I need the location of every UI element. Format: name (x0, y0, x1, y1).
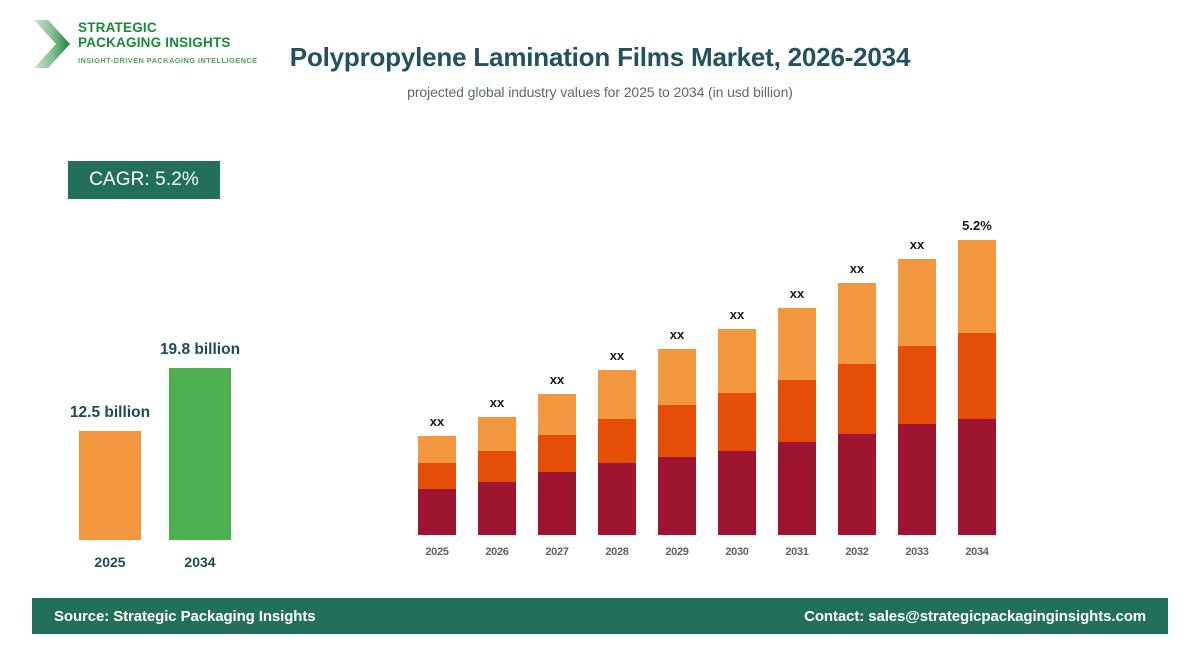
stacked-bar (838, 283, 876, 535)
stacked-bar-segment-segment-top (538, 394, 576, 435)
comparison-bar-group: 19.8 billion (169, 366, 231, 540)
stacked-bar-top-label: xx (402, 414, 472, 429)
stacked-bar (478, 417, 516, 535)
stacked-bar-segment-segment-top (418, 436, 456, 463)
stacked-bar-group: xx2031 (778, 225, 816, 560)
stacked-bar-axis-label: 2027 (538, 546, 576, 558)
comparison-bar-value-label: 19.8 billion (120, 341, 280, 359)
stacked-bar-segment-segment-middle (478, 451, 516, 482)
logo-line-2: PACKAGING INSIGHTS (78, 36, 258, 51)
stacked-bar-segment-segment-bottom (718, 451, 756, 535)
stacked-bar-group: xx2026 (478, 225, 516, 560)
comparison-bar-chart: 12.5 billion202519.8 billion2034 (55, 310, 285, 570)
comparison-bar-axis-label: 2034 (169, 554, 231, 570)
stacked-bar-segment-segment-bottom (598, 463, 636, 535)
stacked-bar-top-label: xx (762, 286, 832, 301)
stacked-bar-axis-label: 2030 (718, 546, 756, 558)
stacked-bar-segment-segment-top (598, 370, 636, 419)
logo-tagline: INSIGHT-DRIVEN PACKAGING INTELLIGENCE (78, 56, 258, 65)
stacked-bar-segment-segment-top (838, 283, 876, 364)
comparison-bar-value-label: 12.5 billion (30, 404, 190, 422)
stacked-bar-segment-segment-middle (778, 380, 816, 442)
stacked-bar-top-label: xx (882, 237, 952, 252)
stacked-bar-group: xx2030 (718, 225, 756, 560)
stacked-bar-segment-segment-middle (658, 405, 696, 457)
footer-bar: Source: Strategic Packaging Insights Con… (32, 598, 1168, 634)
stacked-bar-top-label: xx (642, 327, 712, 342)
stacked-bar-segment-segment-middle (898, 346, 936, 424)
footer-source: Source: Strategic Packaging Insights (54, 608, 315, 625)
stacked-bar-segment-segment-bottom (838, 434, 876, 535)
stacked-bar-axis-label: 2033 (898, 546, 936, 558)
stacked-bar (778, 308, 816, 535)
stacked-bar-group: xx2029 (658, 225, 696, 560)
stacked-bar-top-label: xx (462, 395, 532, 410)
stacked-bar-segment-segment-bottom (418, 489, 456, 535)
stacked-bar-group: xx2028 (598, 225, 636, 560)
page-subtitle: projected global industry values for 202… (280, 84, 920, 100)
stacked-bar-segment-segment-middle (958, 333, 996, 419)
stacked-bar-axis-label: 2031 (778, 546, 816, 558)
stacked-bar-group: xx2033 (898, 225, 936, 560)
stacked-bar-segment-segment-bottom (538, 472, 576, 535)
stacked-bar-axis-label: 2025 (418, 546, 456, 558)
stacked-bar-segment-segment-top (718, 329, 756, 393)
cagr-badge-label: CAGR: 5.2% (89, 169, 199, 191)
stacked-bar-segment-segment-middle (838, 364, 876, 434)
stacked-bar-segment-segment-middle (418, 463, 456, 489)
stacked-bar-group: xx2027 (538, 225, 576, 560)
stacked-bar-top-label: xx (702, 307, 772, 322)
stacked-bar-top-label: xx (582, 348, 652, 363)
brand-logo: STRATEGIC PACKAGING INSIGHTS INSIGHT-DRI… (32, 16, 262, 76)
projection-stacked-bar-chart: xx2025xx2026xx2027xx2028xx2029xx2030xx20… (412, 200, 1012, 560)
stacked-bar-axis-label: 2029 (658, 546, 696, 558)
stacked-bar-top-label: 5.2% (942, 218, 1012, 233)
stacked-bar-top-label: xx (522, 372, 592, 387)
stacked-bar (418, 436, 456, 535)
stacked-bar-group: xx2032 (838, 225, 876, 560)
comparison-bar-group: 12.5 billion (79, 429, 141, 540)
comparison-bar (169, 368, 231, 540)
stacked-bar-axis-label: 2034 (958, 546, 996, 558)
stacked-bar-top-label: xx (822, 261, 892, 276)
stacked-bar-segment-segment-bottom (778, 442, 816, 535)
stacked-bar-segment-segment-bottom (658, 457, 696, 535)
stacked-bar-segment-segment-middle (598, 419, 636, 463)
stacked-bar-segment-segment-top (478, 417, 516, 451)
stacked-bar-segment-segment-middle (718, 393, 756, 451)
cagr-badge: CAGR: 5.2% (68, 161, 220, 199)
stacked-bar-segment-segment-top (658, 349, 696, 405)
stacked-bar-group: xx2025 (418, 225, 456, 560)
stacked-bar (898, 259, 936, 535)
stacked-bar (538, 394, 576, 535)
stacked-bar-axis-label: 2028 (598, 546, 636, 558)
stacked-bar-segment-segment-top (958, 240, 996, 333)
stacked-bar-axis-label: 2026 (478, 546, 516, 558)
stacked-bar-segment-segment-top (898, 259, 936, 346)
stacked-bar-axis-label: 2032 (838, 546, 876, 558)
logo-line-1: STRATEGIC (78, 21, 258, 36)
chevron-right-icon (32, 16, 74, 72)
stacked-bar-segment-segment-bottom (478, 482, 516, 535)
comparison-bar (79, 431, 141, 540)
stacked-bar (958, 240, 996, 535)
logo-text: STRATEGIC PACKAGING INSIGHTS INSIGHT-DRI… (78, 16, 258, 65)
footer-contact: Contact: sales@strategicpackaginginsight… (804, 608, 1146, 625)
comparison-bar-axis-label: 2025 (79, 554, 141, 570)
stacked-bar-segment-segment-bottom (958, 419, 996, 535)
stacked-bar (718, 329, 756, 535)
header-block: Polypropylene Lamination Films Market, 2… (280, 40, 920, 100)
stacked-bar (598, 370, 636, 535)
stacked-bar-segment-segment-middle (538, 435, 576, 472)
page-title: Polypropylene Lamination Films Market, 2… (280, 40, 920, 75)
stacked-bar-segment-segment-bottom (898, 424, 936, 535)
stacked-bar (658, 349, 696, 535)
stacked-bar-group: 5.2%2034 (958, 225, 996, 560)
stacked-bar-segment-segment-top (778, 308, 816, 380)
